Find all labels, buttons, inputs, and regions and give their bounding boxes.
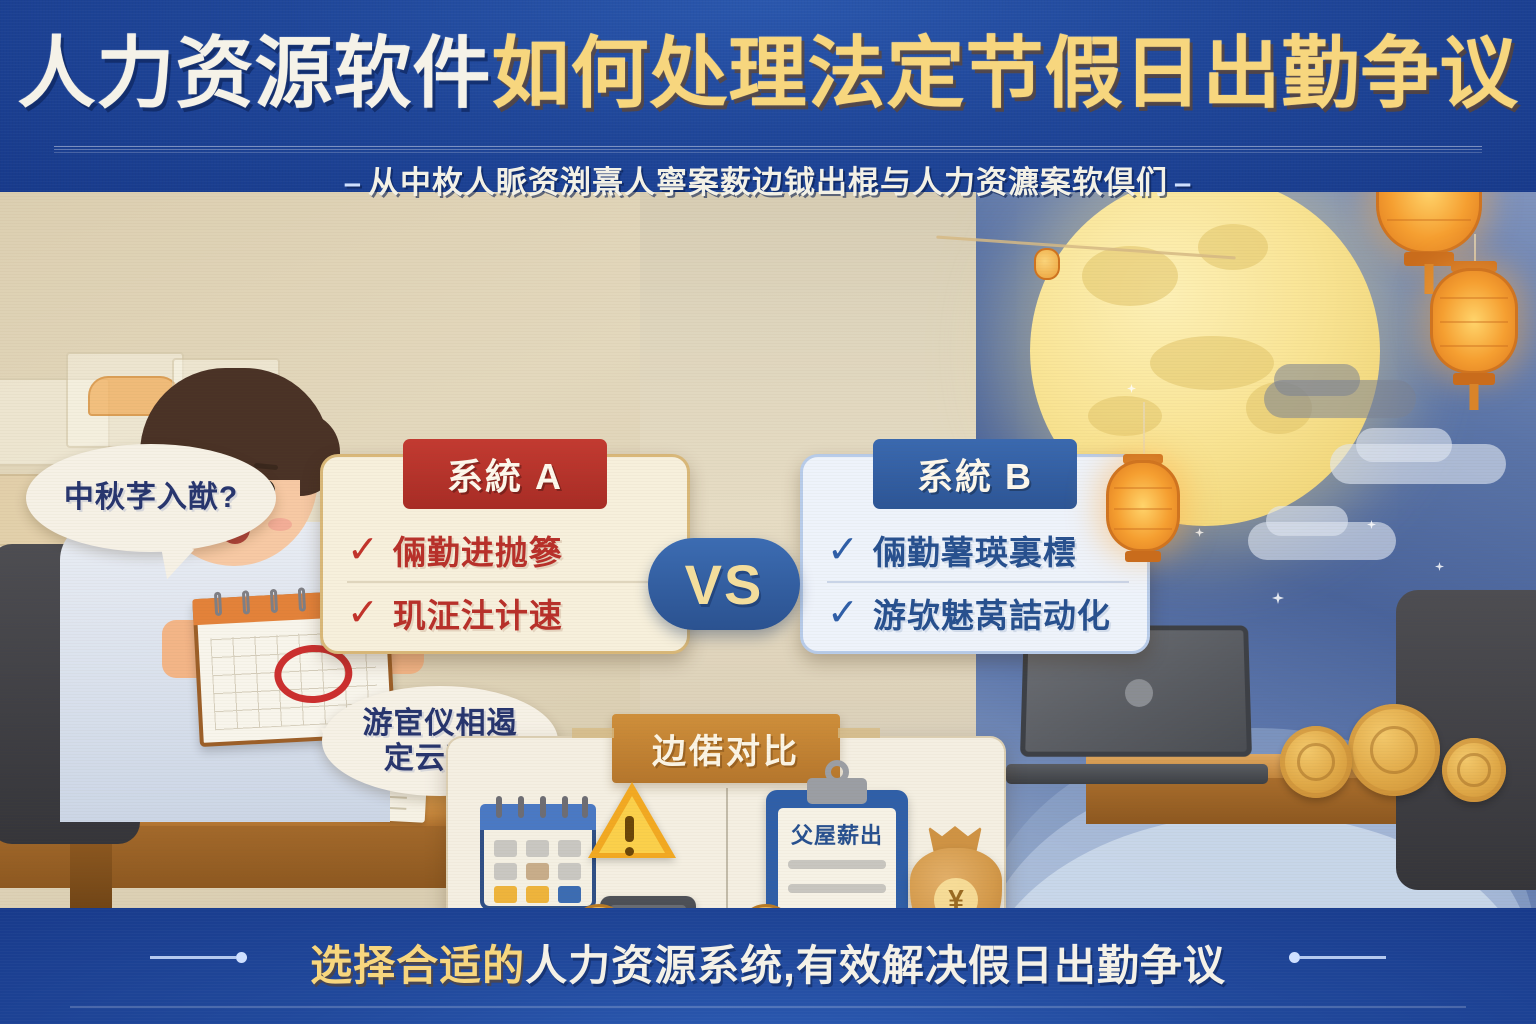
header-divider-rule (54, 146, 1482, 153)
subtitle-text: 从中枚人眽资渕熹人寧案薮边钺出棍与人力资瀌案软倶们 (368, 165, 1168, 200)
subtitle-dash-right: – (1168, 165, 1198, 200)
card-a-feature-label: 玑泟汢计速 (393, 589, 563, 637)
footer-gold-text: 选择合适的 (310, 942, 525, 989)
vs-badge: VS (648, 538, 800, 630)
mooncake-icon (1442, 738, 1506, 802)
footer-rule (70, 1006, 1466, 1008)
man-cheek (268, 518, 292, 531)
check-icon: ✓ (827, 594, 859, 632)
laptop-logo-icon (1125, 679, 1153, 707)
check-icon: ✓ (347, 594, 379, 632)
subtitle-dash-left: – (338, 165, 368, 200)
page-subtitle: –从中枚人眽资渕熹人寧案薮边钺出棍与人力资瀌案软倶们– (0, 157, 1536, 202)
lantern-icon (1376, 192, 1482, 254)
cloud-shape (1266, 506, 1348, 536)
star-icon (1195, 528, 1204, 537)
speech-bubble-man-1: 中秋芓入猷? (26, 444, 276, 552)
card-b-feature-label: 倆勤薯瑛裏橒 (873, 526, 1077, 574)
lantern-icon (1106, 460, 1180, 552)
star-icon (1435, 562, 1444, 571)
comparison-card-system-b[interactable]: 系統 B ✓ 倆勤薯瑛裏橒 ✓ 游欤魅莴詰动化 (800, 454, 1150, 654)
header-band: 人力资源软件如何处理法定节假日出勤争议 –从中枚人眽资渕熹人寧案薮边钺出棍与人力… (0, 0, 1536, 212)
footer-white-text-2: 有效解决假日出勤争议 (796, 942, 1226, 989)
cloud-shape (1356, 428, 1452, 462)
warning-exclamation-dot (625, 847, 634, 856)
card-b-header: 系統 B (873, 439, 1077, 509)
panel-divider (726, 788, 728, 908)
panel-ribbon-label: 边偌对比 (612, 714, 840, 783)
card-a-feature-label: 倆勤进抛篸 (393, 526, 563, 574)
card-a-feature-item: ✓ 玑泟汢计速 (347, 581, 669, 643)
check-icon: ✓ (347, 531, 379, 569)
page-title: 人力资源软件如何处理法定节假日出勤争议 (0, 34, 1536, 112)
warning-exclamation-icon (625, 816, 634, 842)
card-b-feature-item: ✓ 倆勤薯瑛裏橒 (827, 519, 1129, 581)
clipboard-icon: 父屋薪出 (766, 790, 908, 908)
desk-leg (70, 838, 112, 908)
poster-root: 人力资源软件如何处理法定节假日出勤争议 –从中枚人眽资渕熹人寧案薮边钺出棍与人力… (0, 0, 1536, 1024)
laptop-base (1006, 764, 1268, 784)
calendar-icon (480, 804, 596, 908)
card-a-header: 系統 A (403, 439, 607, 509)
card-a-feature-item: ✓ 倆勤进抛篸 (347, 519, 669, 581)
comparison-detail-panel: 边偌对比 (446, 736, 1006, 908)
footer-white-text-1: 人力资源系统 (525, 942, 783, 989)
card-b-feature-label: 游欤魅莴詰动化 (873, 589, 1111, 637)
card-b-feature-list: ✓ 倆勤薯瑛裏橒 ✓ 游欤魅莴詰动化 (827, 519, 1129, 643)
lantern-icon (1430, 268, 1518, 374)
small-lantern-icon (1034, 248, 1060, 280)
footer-band: 选择合适的人力资源系统,有效解决假日出勤争议 (0, 908, 1536, 1024)
title-white-part: 人力资源软件 (17, 29, 491, 117)
illustration-scene: 中秋芓入猷? 游宦仪相遏 定云乱? 系統 A ✓ 倆勤进抛篸 ✓ 玑泟汢计速 (0, 192, 1536, 908)
comparison-card-system-a[interactable]: 系統 A ✓ 倆勤进抛篸 ✓ 玑泟汢计速 (320, 454, 690, 654)
check-icon: ✓ (827, 531, 859, 569)
speech-bubble-man-1-text: 中秋芓入猷? (64, 480, 238, 515)
card-b-feature-item: ✓ 游欤魅莴詰动化 (827, 581, 1129, 643)
title-gold-part: 如何处理法定节假日出勤争议 (492, 29, 1519, 117)
card-a-feature-list: ✓ 倆勤进抛篸 ✓ 玑泟汢计速 (347, 519, 669, 643)
mooncake-icon (1280, 726, 1352, 798)
footer-tagline: 选择合适的人力资源系统,有效解决假日出勤争议 (0, 932, 1536, 993)
clipboard-title-text: 父屋薪出 (778, 818, 896, 850)
mooncake-icon (1348, 704, 1440, 796)
footer-comma: , (783, 942, 796, 989)
bubble2-line1: 游宦仪相遏 (363, 707, 518, 740)
star-icon (1272, 592, 1284, 604)
cloud-shape (1274, 364, 1360, 396)
